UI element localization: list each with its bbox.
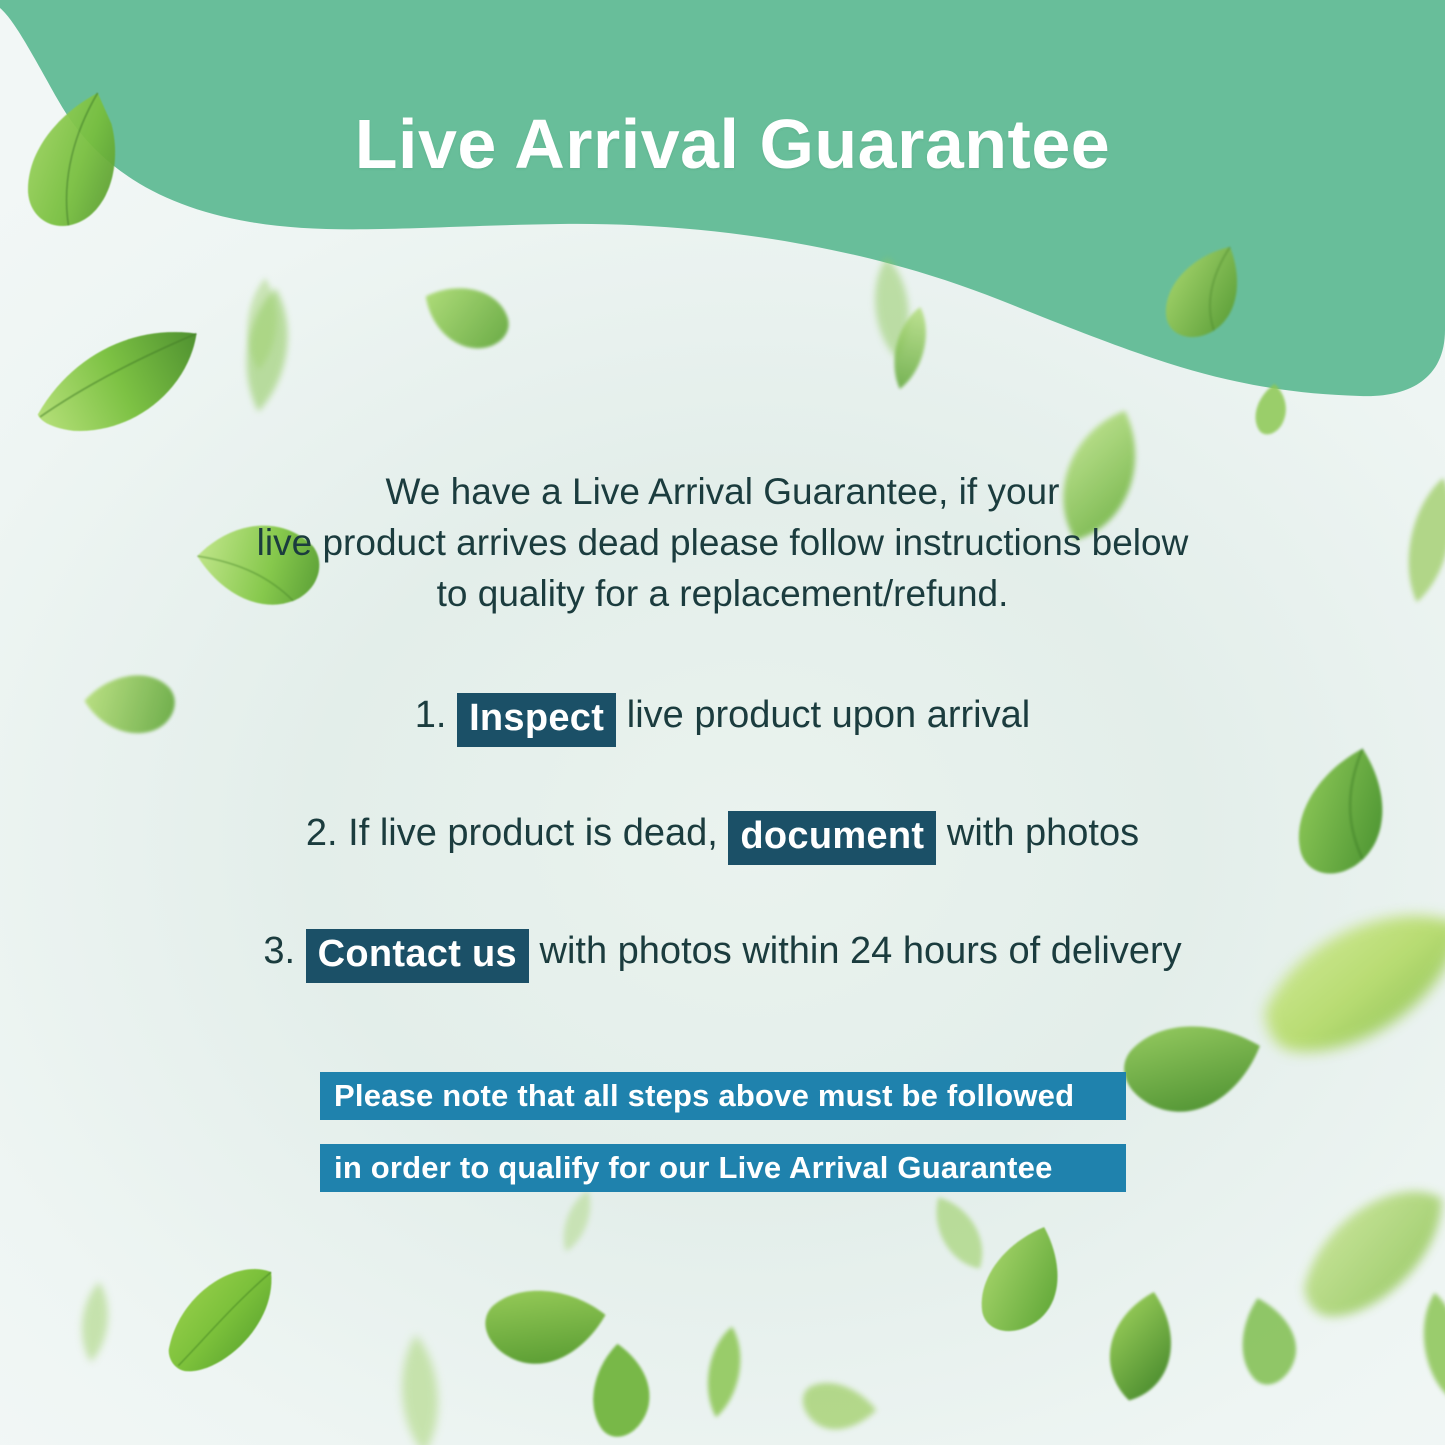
step-3-highlight-contact-us: Contact us (306, 929, 529, 983)
step-3-number: 3. (263, 930, 295, 972)
step-1-number: 1. (415, 694, 447, 736)
instruction-step-2: 2. If live product is dead, document wit… (0, 802, 1445, 865)
intro-line-2: live product arrives dead please follow … (0, 517, 1445, 568)
intro-line-1: We have a Live Arrival Guarantee, if you… (0, 466, 1445, 517)
step-2-number: 2. (306, 812, 338, 854)
step-2-text-after: with photos (947, 812, 1139, 854)
step-3-text-after: with photos within 24 hours of delivery (540, 930, 1182, 972)
intro-paragraph: We have a Live Arrival Guarantee, if you… (0, 466, 1445, 619)
note-banner-group: Please note that all steps above must be… (320, 1072, 1126, 1192)
step-1-highlight-inspect: Inspect (457, 693, 616, 747)
step-2-text-before: If live product is dead, (348, 812, 718, 854)
step-2-highlight-document: document (728, 811, 936, 865)
note-banner-line-1: Please note that all steps above must be… (320, 1072, 1126, 1120)
live-arrival-guarantee-poster: Live Arrival Guarantee We have a Live Ar… (0, 0, 1445, 1445)
step-1-text-after: live product upon arrival (627, 694, 1030, 736)
instruction-steps-list: 1. Inspect live product upon arrival 2. … (0, 684, 1445, 983)
instruction-step-1: 1. Inspect live product upon arrival (0, 684, 1445, 747)
intro-line-3: to quality for a replacement/refund. (0, 568, 1445, 619)
note-banner-line-2: in order to qualify for our Live Arrival… (320, 1144, 1126, 1192)
poster-content: We have a Live Arrival Guarantee, if you… (0, 0, 1445, 1445)
instruction-step-3: 3. Contact us with photos within 24 hour… (0, 920, 1445, 983)
